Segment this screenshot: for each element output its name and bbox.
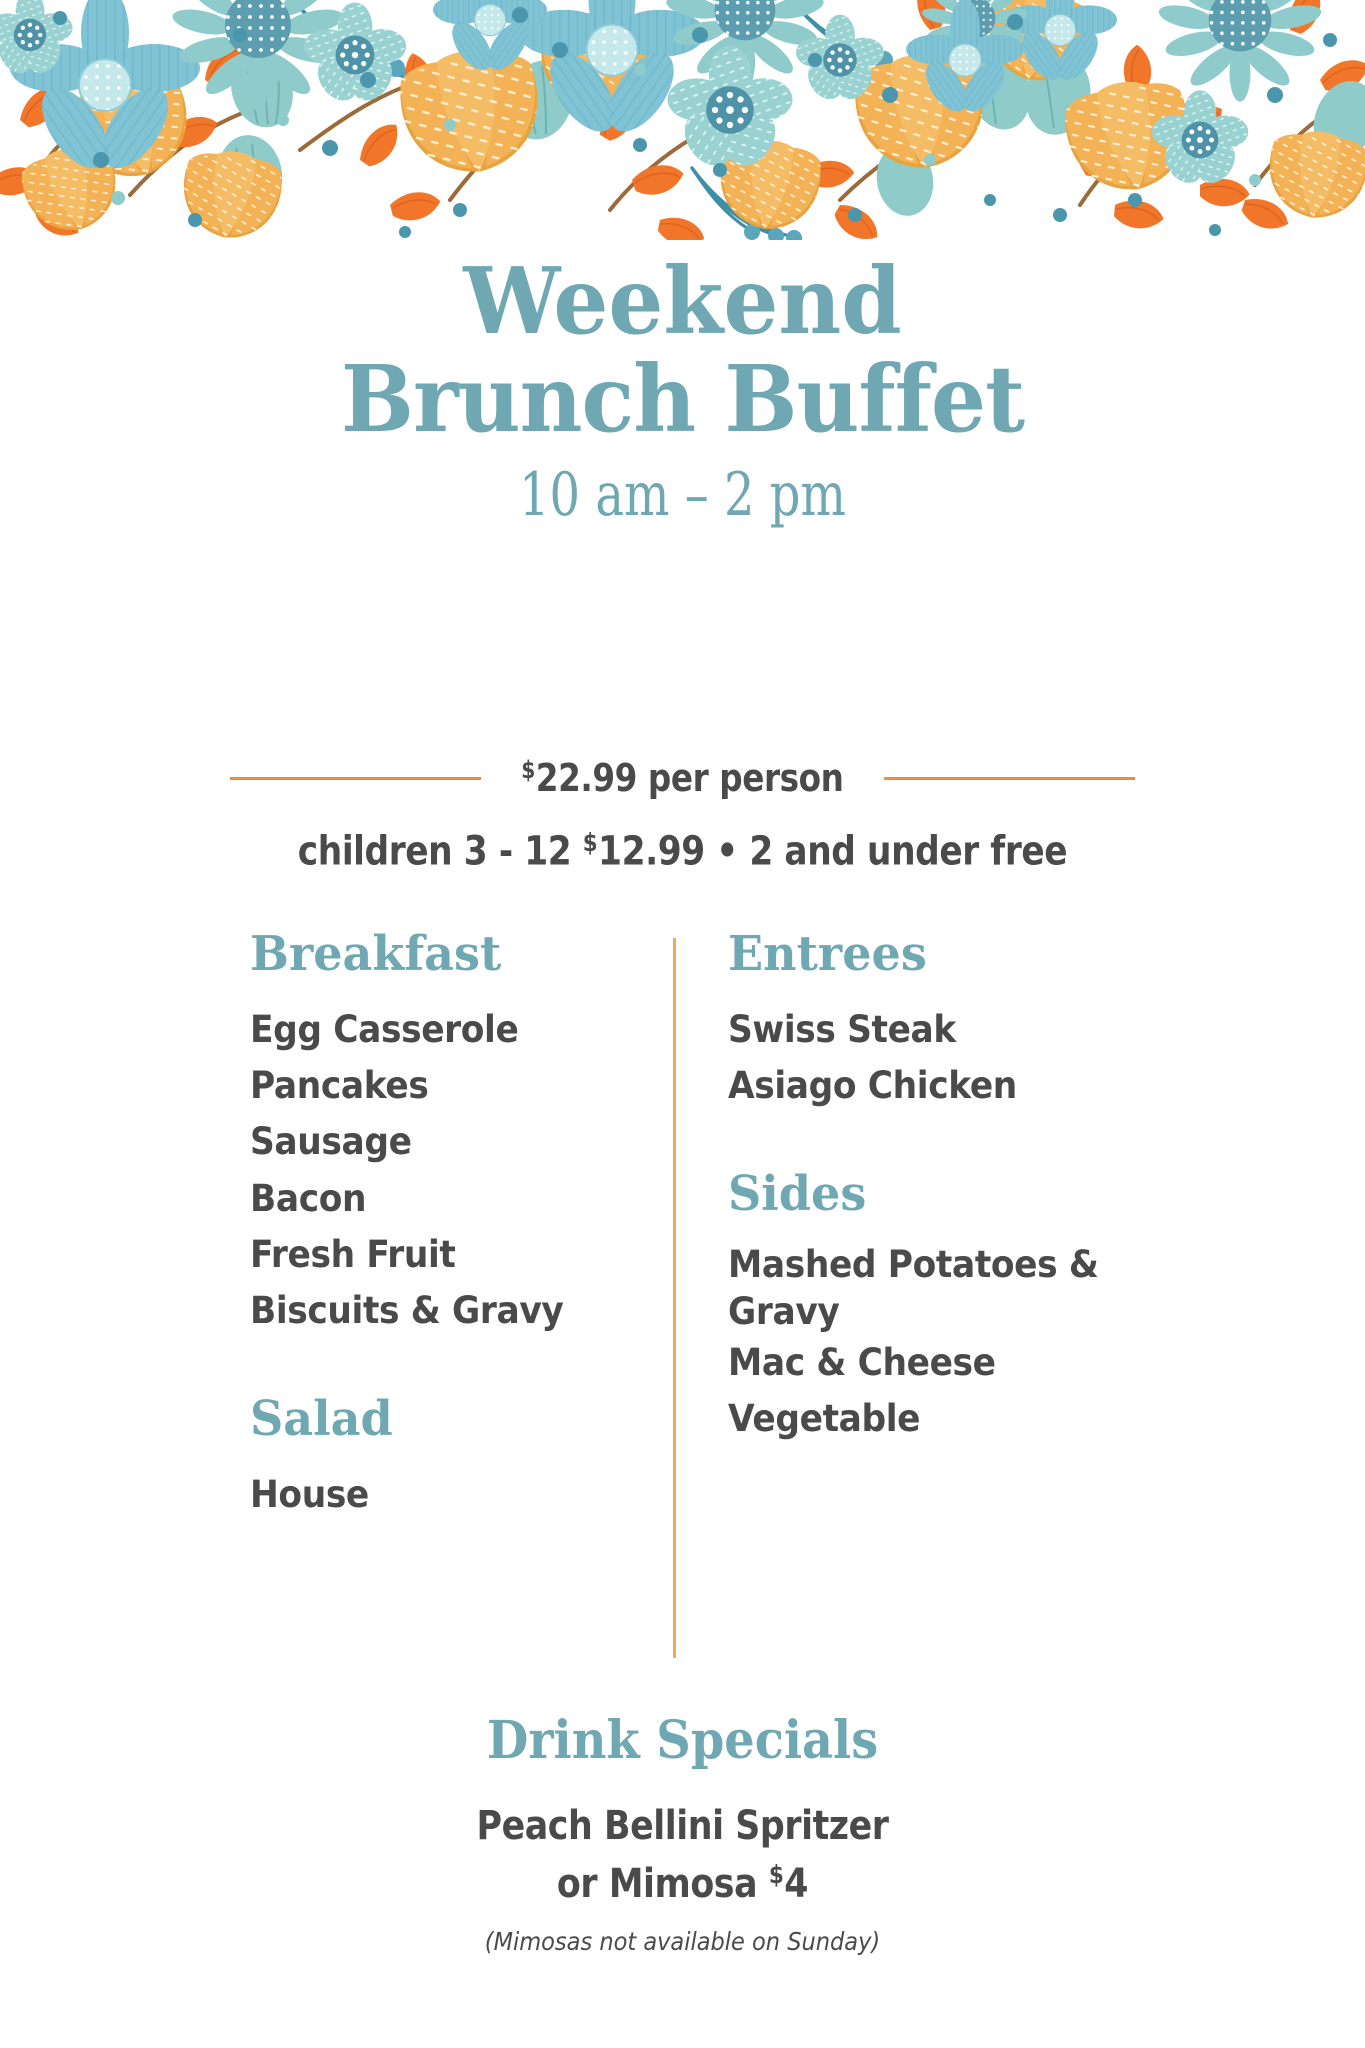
menu-item: Sausage [250,1114,501,1170]
menu-item: Fresh Fruit [250,1227,501,1283]
menu-item: Mashed Potatoes & Gravy [728,1242,1100,1335]
section-heading-breakfast: Breakfast [250,930,509,978]
dollar-sign-icon: $ [521,756,535,784]
menu-item: Mac & Cheese [728,1335,1100,1391]
adult-price-row: $22.99 per person [230,756,1135,800]
drink-specials-block: Drink Specials Peach Bellini Spritzer or… [0,1715,1365,1956]
adult-price-text: 22.99 per person [536,756,844,800]
poster-title: Weekend Brunch Buffet [41,252,1324,449]
menu-item: House [250,1467,501,1523]
menu-columns: Breakfast Egg Casserole Pancakes Sausage… [0,930,1365,1350]
menu-item: Vegetable [728,1391,1100,1447]
adult-price: $22.99 per person [521,756,843,800]
rule-left [230,777,481,780]
floral-border-decoration [0,0,1365,240]
section-heading-salad: Salad [250,1395,509,1443]
drink-availability-note: (Mimosas not available on Sunday) [68,1927,1297,1956]
menu-item: Pancakes [250,1058,501,1114]
menu-item: Bacon [250,1171,501,1227]
children-price-amount: 12.99 [598,829,705,875]
children-price-line: children 3 - 12 $12.99 • 2 and under fre… [96,828,1270,875]
menu-item: Biscuits & Gravy [250,1283,501,1339]
rule-right [884,777,1135,780]
children-price-prefix: children 3 - 12 [298,829,583,875]
children-price-suffix: • 2 and under free [705,829,1067,875]
section-heading-sides: Sides [728,1170,1112,1218]
poster-title-line-2: Brunch Buffet [41,350,1324,448]
pricing-block: $22.99 per person children 3 - 12 $12.99… [0,756,1365,875]
section-heading-entrees: Entrees [728,930,1112,978]
column-divider [673,938,676,1658]
drink-line-1: Peach Bellini Spritzer [89,1797,1277,1855]
drink-price: 4 [784,1861,808,1907]
dollar-sign-icon-children: $ [583,828,597,857]
poster-hours: 10 am – 2 pm [137,465,1229,525]
poster-title-block: Weekend Brunch Buffet 10 am – 2 pm [0,252,1365,525]
drink-line-2-text: or Mimosa [557,1861,769,1907]
menu-column-left: Breakfast Egg Casserole Pancakes Sausage… [250,930,520,1524]
menu-item: Asiago Chicken [728,1058,1100,1114]
poster-title-line-1: Weekend [41,252,1324,350]
section-heading-drink-specials: Drink Specials [55,1715,1311,1767]
menu-column-right: Entrees Swiss Steak Asiago Chicken Sides… [728,930,1128,1447]
menu-item: Swiss Steak [728,1002,1100,1058]
drink-line-2: or Mimosa $4 [89,1855,1277,1913]
menu-item: Egg Casserole [250,1002,501,1058]
dollar-sign-icon-drink: $ [769,1860,784,1889]
